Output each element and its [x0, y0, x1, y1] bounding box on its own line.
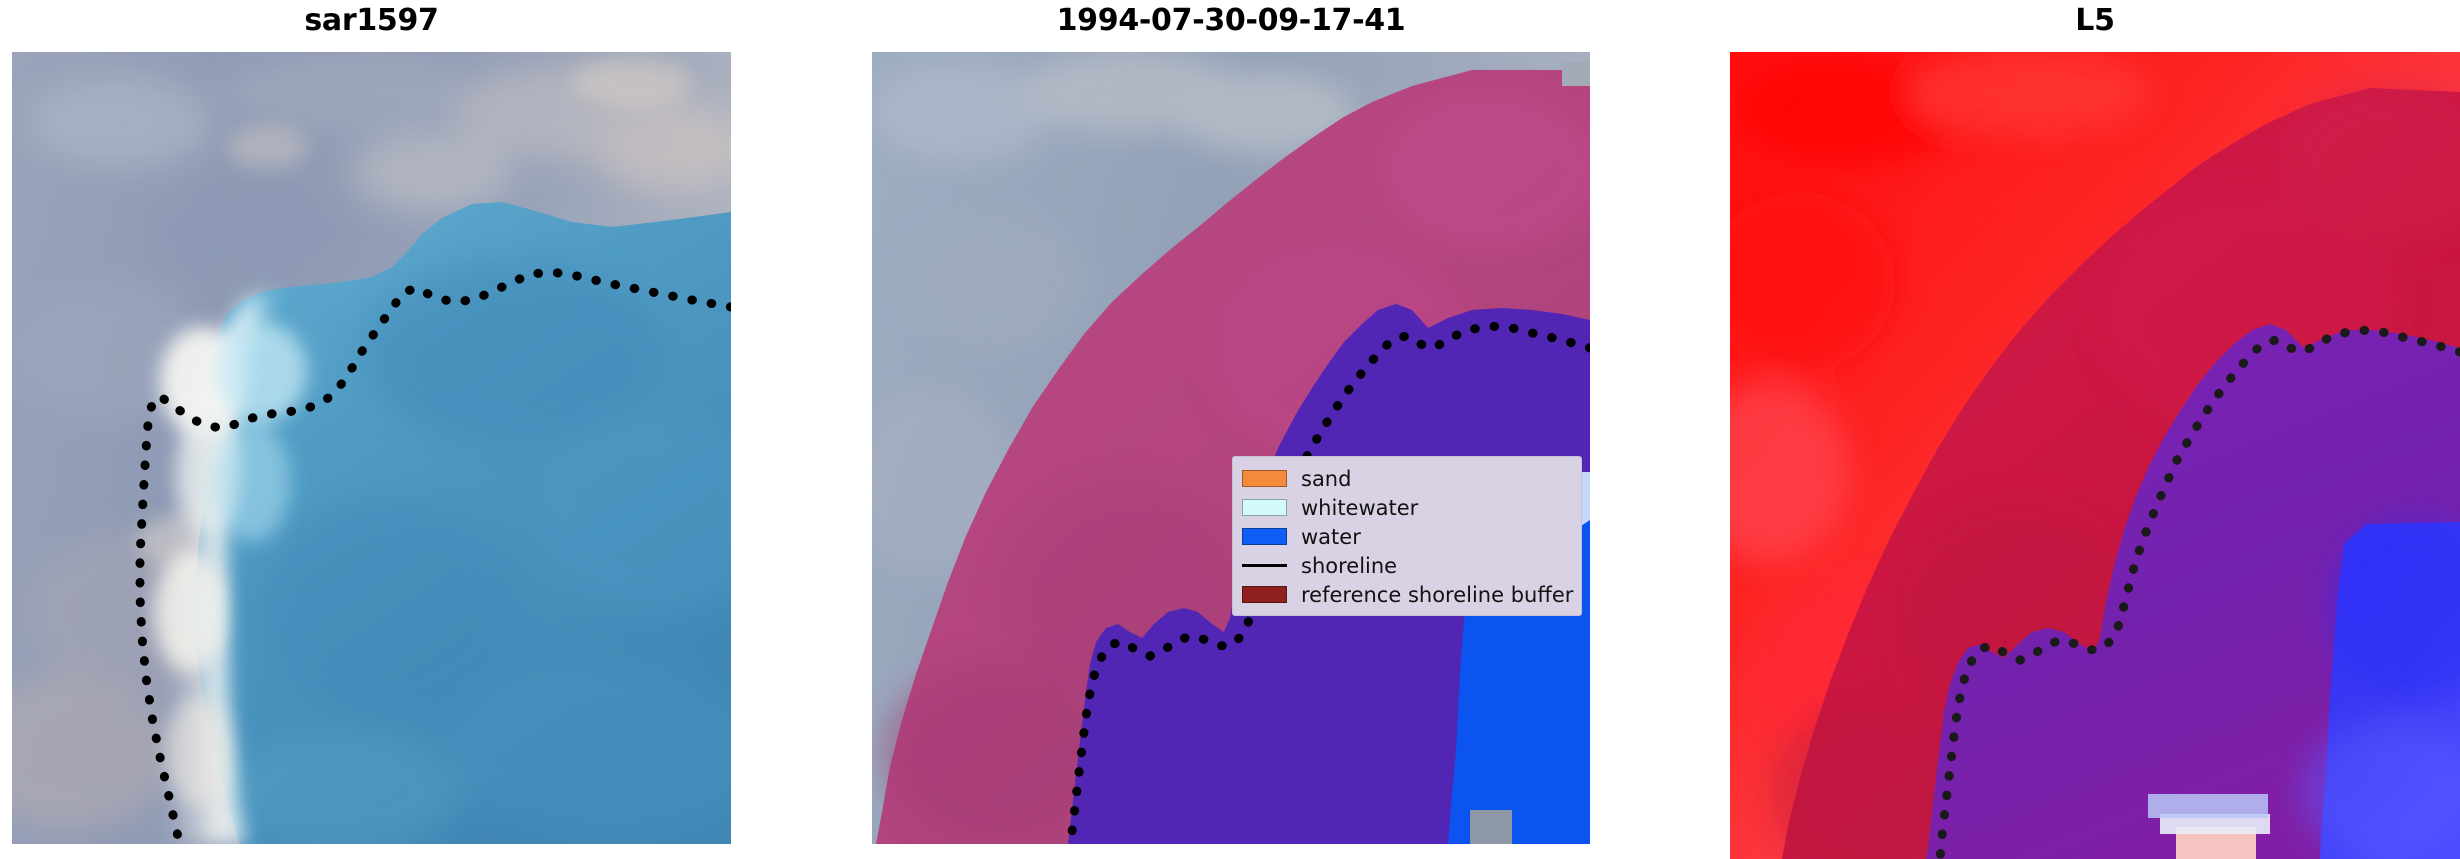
legend-label-whitewater: whitewater [1301, 496, 1418, 520]
figure-canvas: sar1597 [0, 0, 2460, 859]
legend-label-reference-shoreline-buffer: reference shoreline buffer [1301, 583, 1573, 607]
panel-l5 [1730, 52, 2460, 859]
legend-item-whitewater: whitewater [1242, 493, 1572, 522]
legend-item-water: water [1242, 522, 1572, 551]
l5-image [1730, 52, 2460, 859]
legend-item-sand: sand [1242, 464, 1572, 493]
sand-swatch [1242, 470, 1287, 487]
panel-sar1597-title: sar1597 [12, 6, 731, 36]
legend-label-sand: sand [1301, 467, 1351, 491]
legend-box: sand whitewater water shoreline referenc… [1232, 456, 1582, 616]
water-swatch [1242, 528, 1287, 545]
legend-label-water: water [1301, 525, 1361, 549]
legend-item-shoreline: shoreline [1242, 551, 1572, 580]
shoreline-line-marker [1242, 557, 1287, 574]
classified-image [872, 52, 1590, 844]
panel-classified-title: 1994-07-30-09-17-41 [872, 6, 1590, 36]
sar1597-image [12, 52, 731, 844]
panel-sar1597 [12, 52, 731, 844]
panel-classified [872, 52, 1590, 844]
panel-l5-title: L5 [1730, 6, 2460, 36]
legend-item-reference-shoreline-buffer: reference shoreline buffer [1242, 580, 1572, 609]
reference-shoreline-buffer-swatch [1242, 586, 1287, 603]
legend-label-shoreline: shoreline [1301, 554, 1397, 578]
whitewater-swatch [1242, 499, 1287, 516]
